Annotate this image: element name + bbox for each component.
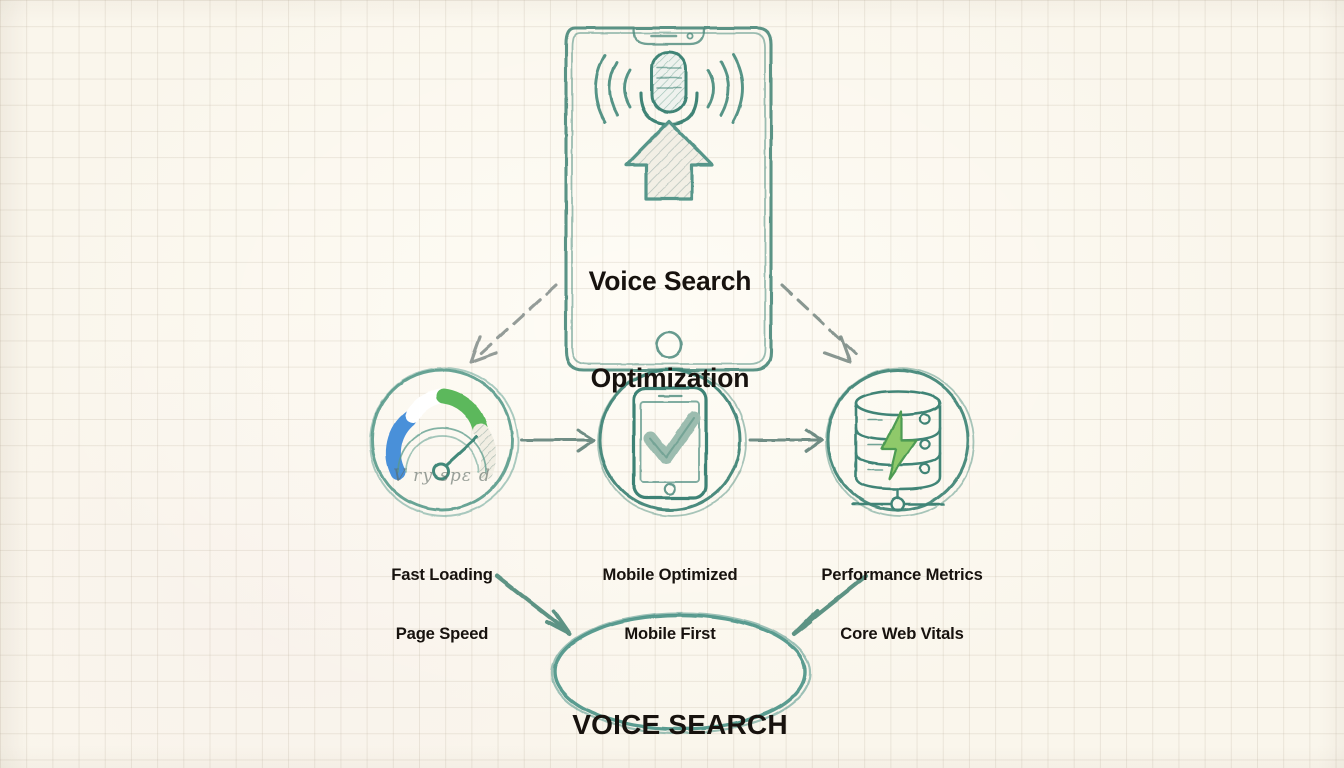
node-label-performance-metrics-line2: Core Web Vitals bbox=[788, 624, 1016, 644]
node-label-fast-loading: Fast Loading Page Speed bbox=[342, 526, 542, 683]
goal-label-line1: VOICE SEARCH bbox=[555, 708, 805, 742]
node-label-fast-loading-line1: Fast Loading bbox=[342, 565, 542, 585]
up-arrow-icon bbox=[626, 121, 712, 199]
diagram-canvas: Voice Search Optimization V ry spε d Fas… bbox=[0, 0, 1344, 768]
database-lightning-icon bbox=[852, 391, 944, 511]
hero-title: Voice Search Optimization bbox=[545, 200, 795, 459]
node-label-mobile-optimized-line1: Mobile Optimized bbox=[560, 565, 780, 585]
gauge-caption: V ry spε d bbox=[382, 466, 502, 486]
goal-label: VOICE SEARCH SUCCESS bbox=[555, 641, 805, 768]
hero-title-line2: Optimization bbox=[545, 362, 795, 394]
hero-to-performance-metrics-arrowhead bbox=[825, 337, 850, 362]
hero-title-line1: Voice Search bbox=[545, 265, 795, 297]
node-label-performance-metrics-line1: Performance Metrics bbox=[788, 565, 1016, 585]
node-label-fast-loading-line2: Page Speed bbox=[342, 624, 542, 644]
node-label-performance-metrics: Performance Metrics Core Web Vitals bbox=[788, 526, 1016, 683]
